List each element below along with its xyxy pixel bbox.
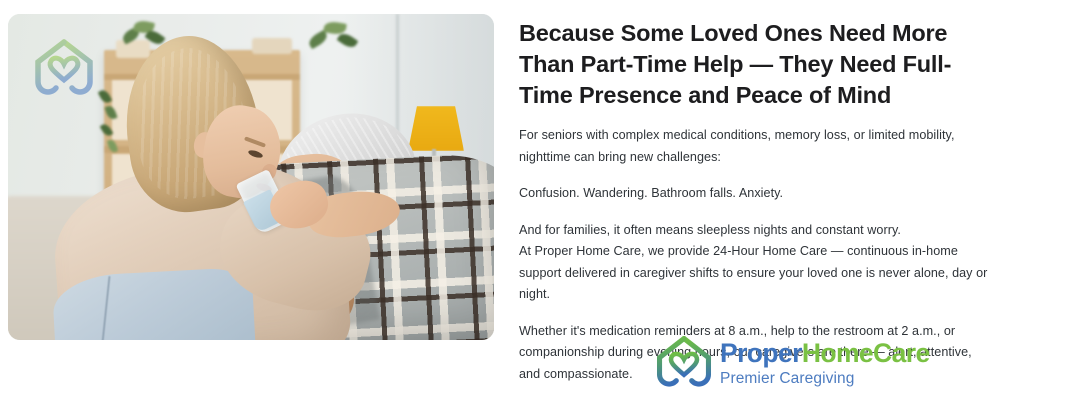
house-heart-logo-icon — [655, 334, 713, 392]
hero-paragraph-3: And for families, it often means sleeple… — [519, 220, 991, 306]
shelf-box-2 — [252, 38, 292, 54]
logo-word-homecare: HomeCare — [802, 338, 930, 368]
page-root: Because Some Loved Ones Need More Than P… — [0, 0, 1067, 408]
logo-wordmark: ProperHomeCare Premier Caregiving — [720, 340, 930, 386]
logo-tagline: Premier Caregiving — [720, 371, 930, 387]
house-heart-logo-icon — [32, 36, 96, 100]
hero-paragraph-1: For seniors with complex medical conditi… — [519, 125, 991, 168]
brand-logo[interactable]: ProperHomeCare Premier Caregiving — [655, 334, 930, 392]
floor-lamp-shade — [408, 106, 464, 151]
shelf-plant-right — [308, 20, 360, 54]
hero-paragraph-2: Confusion. Wandering. Bathroom falls. An… — [519, 183, 991, 205]
hero-photo — [8, 14, 494, 340]
logo-word-row: ProperHomeCare — [720, 340, 930, 367]
logo-word-proper: Proper — [720, 338, 802, 368]
photo-scene — [8, 14, 494, 340]
page-title: Because Some Loved Ones Need More Than P… — [519, 18, 991, 111]
hero-text-column: Because Some Loved Ones Need More Than P… — [519, 18, 991, 385]
